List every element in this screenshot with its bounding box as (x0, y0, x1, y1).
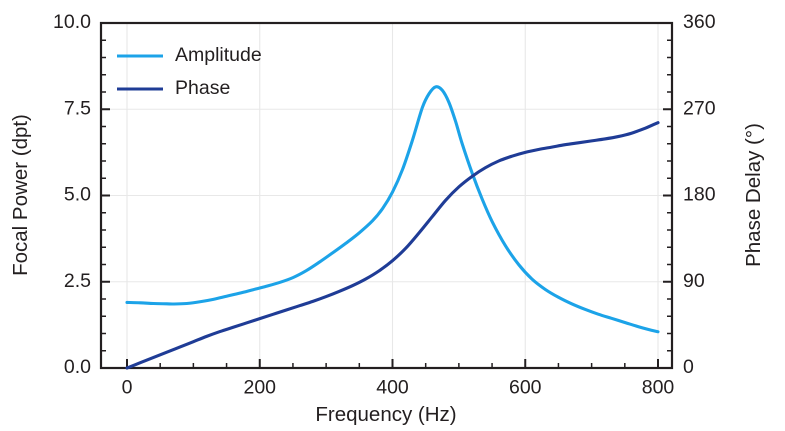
y-tick-label: 10.0 (53, 11, 91, 33)
x-axis-label: Frequency (Hz) (315, 403, 456, 426)
x-tick-label: 400 (376, 377, 409, 399)
y-tick-label: 5.0 (64, 184, 91, 206)
gridlines (101, 23, 672, 368)
y2-tick-label: 180 (683, 184, 716, 206)
legend-label-amplitude: Amplitude (175, 44, 262, 66)
focal-power-phase-delay-chart: 02004006008000.02.55.07.510.009018027036… (0, 0, 785, 431)
chart-figure: 02004006008000.02.55.07.510.009018027036… (0, 0, 785, 431)
y-tick-label: 0.0 (64, 356, 91, 378)
x-tick-label: 0 (122, 377, 133, 399)
y-axis-label: Focal Power (dpt) (9, 114, 32, 276)
x-tick-label: 200 (243, 377, 276, 399)
y2-tick-label: 90 (683, 270, 705, 292)
chart-legend: AmplitudePhase (117, 44, 262, 99)
y2-tick-label: 360 (683, 11, 716, 33)
y-tick-label: 2.5 (64, 270, 91, 292)
y2-tick-label: 0 (683, 356, 694, 378)
y2-tick-label: 270 (683, 97, 716, 119)
x-tick-label: 600 (509, 377, 542, 399)
x-tick-label: 800 (642, 377, 675, 399)
legend-label-phase: Phase (175, 77, 230, 99)
secondary-y-axis-label: Phase Delay (°) (742, 123, 765, 267)
y-tick-label: 7.5 (64, 97, 91, 119)
